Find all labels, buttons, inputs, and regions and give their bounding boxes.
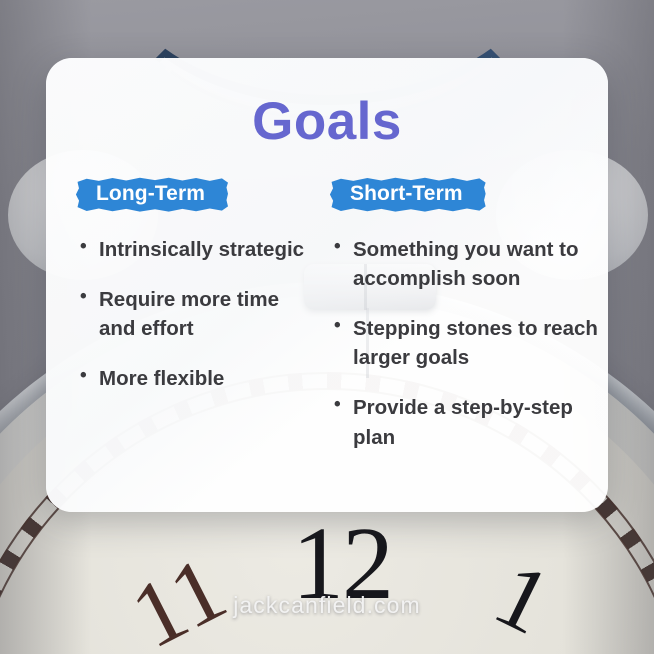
list-item: Require more time and effort [80,285,320,343]
content-card: Goals Long-Term Intrinsically strategic … [46,58,608,512]
badge-short-term: Short-Term [334,176,479,213]
bullet-list-short-term: Something you want to accomplish soon St… [334,235,608,452]
watermark: jackcanfield.com [0,592,654,619]
badge-label-short-term: Short-Term [334,176,479,213]
list-item: Something you want to accomplish soon [334,235,608,293]
list-item: Stepping stones to reach larger goals [334,314,608,372]
list-item: Provide a step-by-step plan [334,393,608,451]
page-title: Goals [46,91,608,152]
badge-label-long-term: Long-Term [80,176,221,213]
column-long-term: Long-Term Intrinsically strategic Requir… [46,176,320,473]
column-short-term: Short-Term Something you want to accompl… [320,176,608,473]
goal-columns: Long-Term Intrinsically strategic Requir… [46,176,608,473]
infographic-canvas: 11 12 1 Goals Long-Term [0,0,654,654]
list-item: Intrinsically strategic [80,235,320,264]
list-item: More flexible [80,364,320,393]
bullet-list-long-term: Intrinsically strategic Require more tim… [80,235,320,393]
badge-long-term: Long-Term [80,176,221,213]
